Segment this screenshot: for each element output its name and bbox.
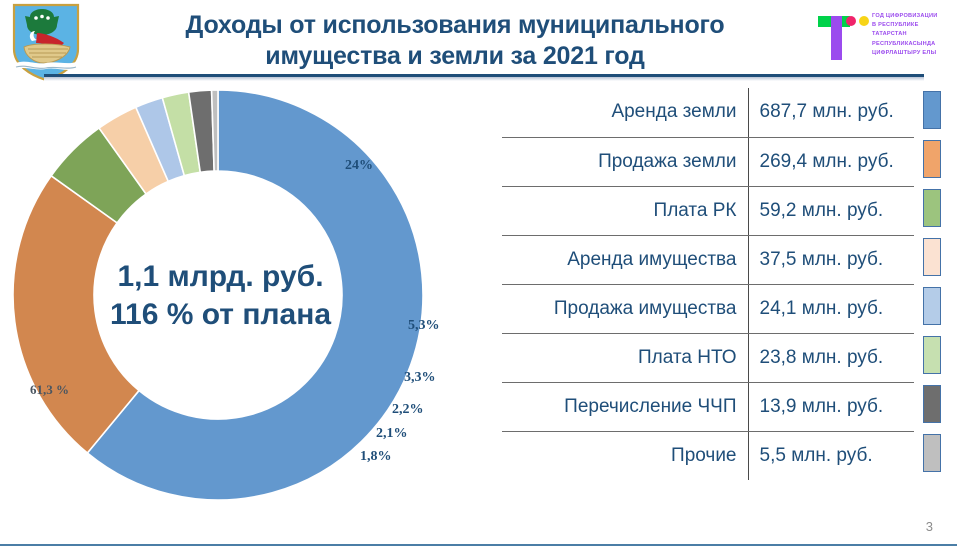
legend-color-swatch — [923, 189, 941, 227]
slice-percent-plata-nto: 2,1% — [376, 426, 408, 442]
page-title: Доходы от использования муниципального и… — [110, 10, 800, 72]
slide-header: Доходы от использования муниципального и… — [0, 0, 957, 82]
legend-row-swatch-cell — [914, 137, 950, 186]
legend-row-value: 24,1 млн. руб. — [748, 284, 914, 333]
legend-table-grid: Аренда земли687,7 млн. руб.Продажа земли… — [502, 88, 950, 480]
table-row: Продажа земли269,4 млн. руб. — [502, 137, 950, 186]
table-row: Прочие5,5 млн. руб. — [502, 431, 950, 480]
slice-percent-prodazha-zemli: 24% — [345, 158, 373, 174]
legend-row-swatch-cell — [914, 382, 950, 431]
legend-row-value: 59,2 млн. руб. — [748, 186, 914, 235]
legend-color-swatch — [923, 287, 941, 325]
center-total: 1,1 млрд. руб. — [88, 258, 353, 296]
legend-row-name: Плата НТО — [502, 333, 748, 382]
legend-row-name: Продажа имущества — [502, 284, 748, 333]
legend-color-swatch — [923, 91, 941, 129]
legend-color-swatch — [923, 140, 941, 178]
legend-row-value: 37,5 млн. руб. — [748, 235, 914, 284]
legend-row-name: Перечисление ЧЧП — [502, 382, 748, 431]
slice-percent-arenda-imushchestva: 3,3% — [404, 370, 436, 386]
digital-year-logo-text: Год цифровизации в Республике Татарстан … — [872, 12, 952, 58]
logo-text-line-2: в Республике — [872, 21, 952, 30]
slice-percent-prodazha-imushchestva: 2,2% — [392, 402, 424, 418]
logo-text-line-1: Год цифровизации — [872, 12, 952, 21]
digital-year-logo: Год цифровизации в Республике Татарстан … — [818, 10, 950, 66]
table-row: Перечисление ЧЧП13,9 млн. руб. — [502, 382, 950, 431]
legend-row-swatch-cell — [914, 186, 950, 235]
legend-row-name: Прочие — [502, 431, 748, 480]
table-row: Плата НТО23,8 млн. руб. — [502, 333, 950, 382]
center-plan: 116 % от плана — [88, 296, 353, 334]
legend-row-value: 269,4 млн. руб. — [748, 137, 914, 186]
digital-year-mark-icon — [818, 16, 864, 60]
legend-color-swatch — [923, 385, 941, 423]
table-row: Плата РК59,2 млн. руб. — [502, 186, 950, 235]
table-row: Аренда земли687,7 млн. руб. — [502, 88, 950, 137]
legend-color-swatch — [923, 434, 941, 472]
legend-row-name: Аренда земли — [502, 88, 748, 137]
legend-row-swatch-cell — [914, 284, 950, 333]
legend-color-swatch — [923, 238, 941, 276]
legend-row-swatch-cell — [914, 431, 950, 480]
title-line-2: имущества и земли за 2021 год — [110, 41, 800, 72]
table-row: Продажа имущества24,1 млн. руб. — [502, 284, 950, 333]
logo-text-line-5: цифрлаштыру елы — [872, 49, 952, 58]
legend-color-swatch — [923, 336, 941, 374]
legend-table: Аренда земли687,7 млн. руб.Продажа земли… — [502, 88, 950, 500]
slice-percent-plata-rk: 5,3% — [408, 318, 440, 334]
legend-row-value: 23,8 млн. руб. — [748, 333, 914, 382]
logo-text-line-3: Татарстан — [872, 30, 952, 39]
legend-row-value: 5,5 млн. руб. — [748, 431, 914, 480]
coat-of-arms-icon — [10, 3, 82, 81]
donut-chart: 61,3 % 24% 5,3% 3,3% 2,2% 2,1% 1,8% 1,1 … — [0, 80, 500, 510]
slice-percent-perechislenie-chchp: 1,8% — [360, 449, 392, 465]
legend-row-name: Аренда имущества — [502, 235, 748, 284]
legend-row-name: Продажа земли — [502, 137, 748, 186]
legend-row-swatch-cell — [914, 235, 950, 284]
slide-root: Доходы от использования муниципального и… — [0, 0, 957, 546]
legend-row-swatch-cell — [914, 333, 950, 382]
table-row: Аренда имущества37,5 млн. руб. — [502, 235, 950, 284]
legend-row-value: 13,9 млн. руб. — [748, 382, 914, 431]
donut-center-label: 1,1 млрд. руб. 116 % от плана — [88, 258, 353, 334]
legend-row-value: 687,7 млн. руб. — [748, 88, 914, 137]
title-line-1: Доходы от использования муниципального — [110, 10, 800, 41]
slice-percent-arenda-zemli: 61,3 % — [30, 382, 69, 398]
page-number: 3 — [926, 519, 933, 534]
logo-text-line-4: Республикасында — [872, 40, 952, 49]
legend-row-name: Плата РК — [502, 186, 748, 235]
legend-row-swatch-cell — [914, 88, 950, 137]
